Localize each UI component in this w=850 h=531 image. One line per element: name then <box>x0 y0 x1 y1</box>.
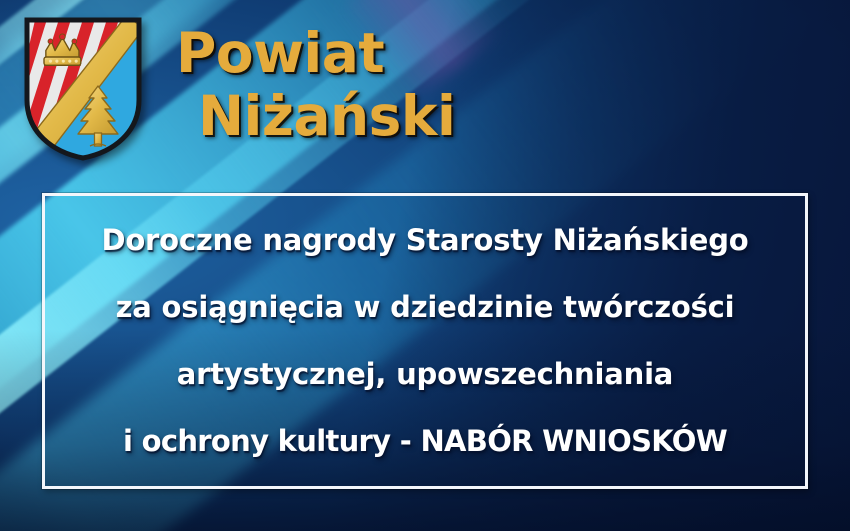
message-line-1: Doroczne nagrody Starosty Niżańskiego <box>101 223 748 257</box>
shield-field <box>22 16 144 162</box>
title-line-powiat: Powiat <box>176 22 606 85</box>
message-frame: Doroczne nagrody Starosty Niżańskiego za… <box>42 193 808 489</box>
message-line-4: i ochrony kultury - NABÓR WNIOSKÓW <box>123 424 727 458</box>
message-line-3: artystycznej, upowszechniania <box>177 357 673 391</box>
poster-graphic: Powiat Niżański Doroczne nagrody Starost… <box>0 0 850 531</box>
message-text-block: Doroczne nagrody Starosty Niżańskiego za… <box>45 196 805 486</box>
message-line-2: za osiągnięcia w dziedzinie twórczości <box>116 290 735 324</box>
title-line-nizanski: Niżański <box>176 85 606 148</box>
coat-of-arms <box>22 16 144 162</box>
logotype-title: Powiat Niżański <box>176 22 606 148</box>
